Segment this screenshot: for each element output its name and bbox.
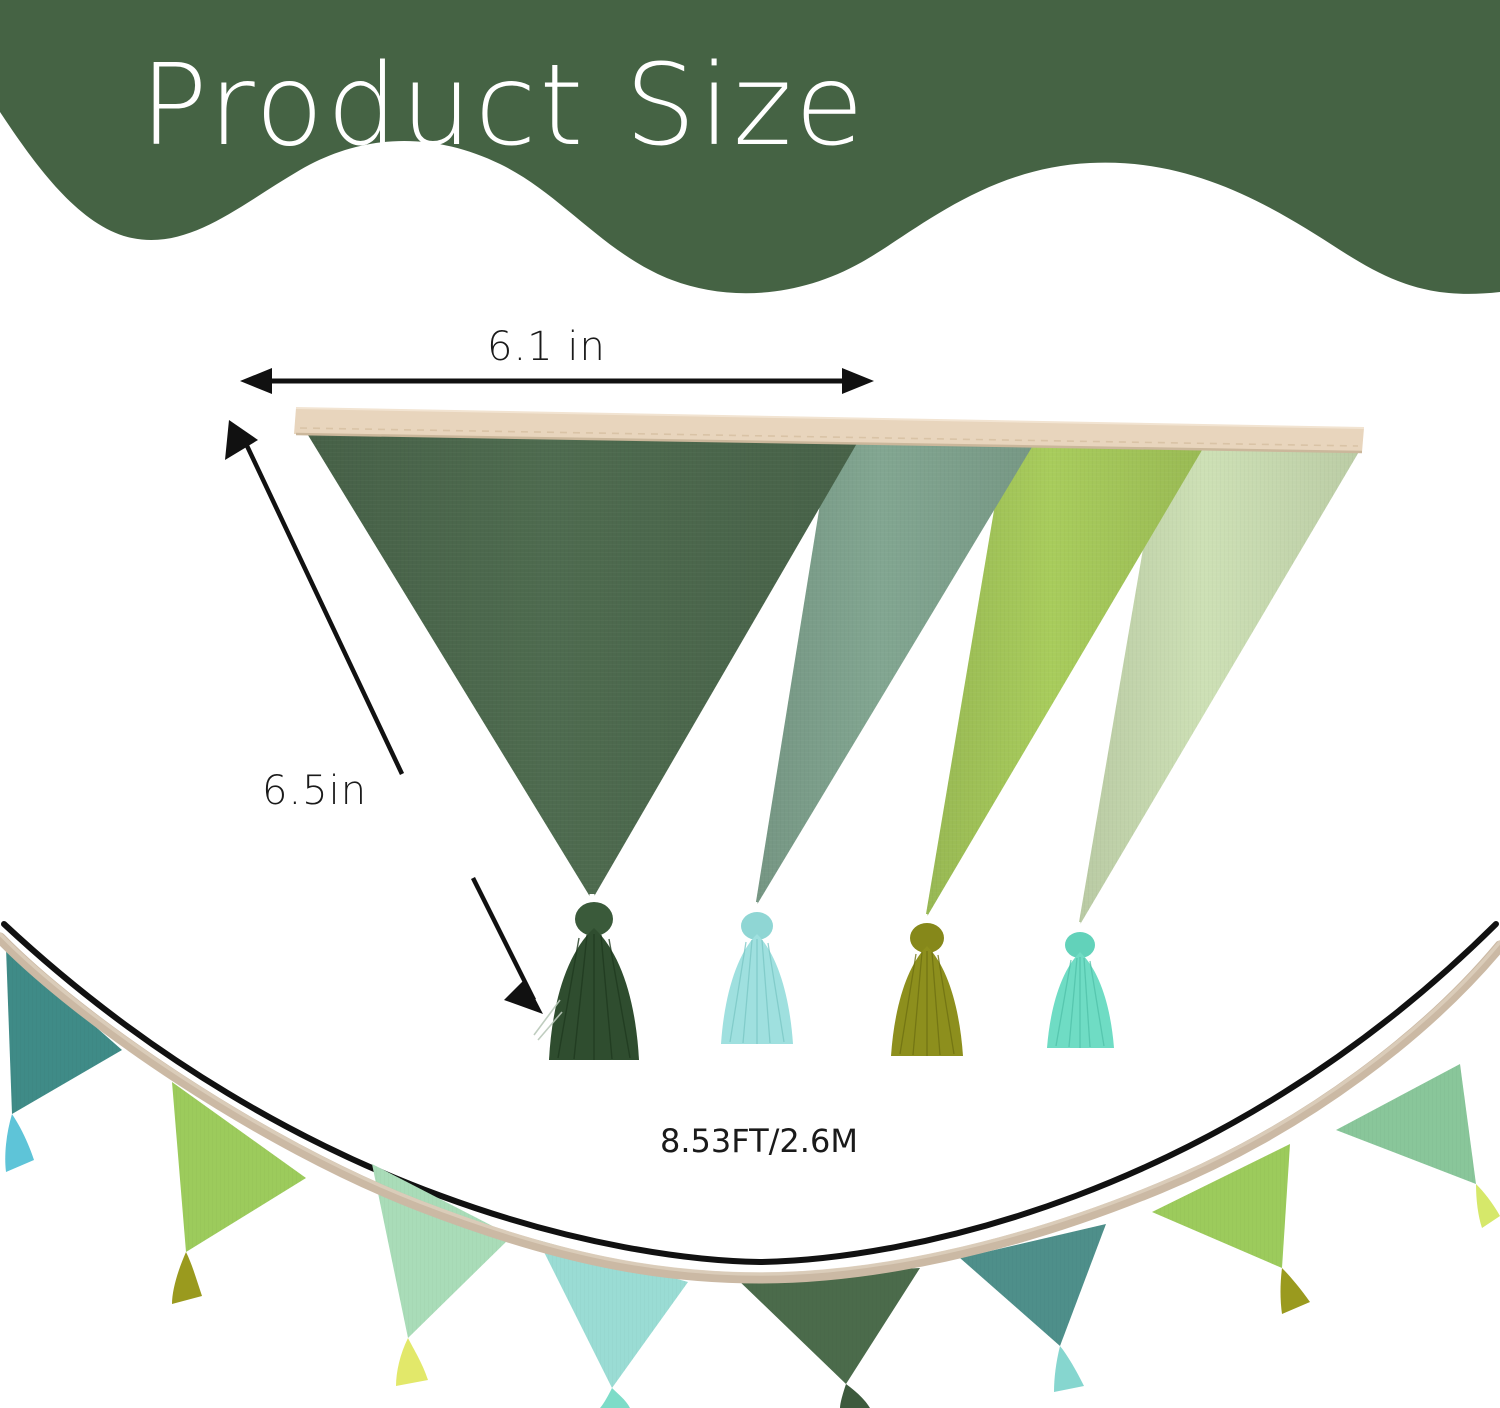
- pennant-7: [1152, 1144, 1310, 1314]
- pennant-5: [736, 1268, 920, 1408]
- pennant-8: [1336, 1064, 1500, 1228]
- pennant-1: [5, 948, 122, 1172]
- width-dimension-label: 6.1 in: [487, 324, 606, 370]
- page-title: Product Size: [140, 48, 867, 166]
- garland-illustration: [0, 900, 1500, 1408]
- height-dimension-label: 6.5in: [262, 768, 367, 814]
- product-size-infographic: Product Size: [0, 0, 1500, 1408]
- header-wave-shape: [0, 0, 1500, 294]
- header-banner: Product Size: [0, 0, 1500, 330]
- width-dimension-arrow: [240, 368, 874, 394]
